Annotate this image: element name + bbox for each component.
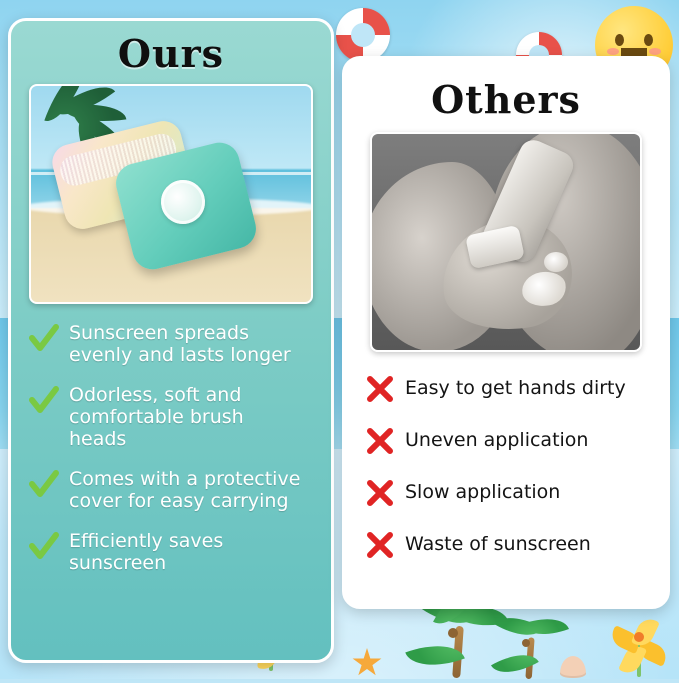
photo-lotion-drip xyxy=(544,252,568,272)
list-item: Easy to get hands dirty xyxy=(365,374,653,404)
others-title: Others xyxy=(345,77,667,122)
shell-icon xyxy=(560,656,586,678)
list-item-label: Uneven application xyxy=(405,430,588,452)
list-item-label: Easy to get hands dirty xyxy=(405,378,626,400)
list-item-label: Slow application xyxy=(405,482,560,504)
list-item: Sunscreen spreads evenly and lasts longe… xyxy=(29,322,321,366)
check-icon xyxy=(29,470,59,500)
list-item-label: Comes with a protective cover for easy c… xyxy=(69,468,307,512)
list-item-label: Sunscreen spreads evenly and lasts longe… xyxy=(69,322,307,366)
others-card: Others Easy to get hands dirty Uneven ap… xyxy=(342,56,670,609)
list-item-label: Waste of sunscreen xyxy=(405,534,591,556)
others-product-photo xyxy=(370,132,642,352)
check-icon xyxy=(29,324,59,354)
starfish-icon xyxy=(352,648,382,678)
cross-icon xyxy=(365,374,395,404)
check-icon xyxy=(29,532,59,562)
others-drawback-list: Easy to get hands dirty Uneven applicati… xyxy=(345,356,667,560)
list-item-label: Odorless, soft and comfortable brush hea… xyxy=(69,384,307,450)
ours-benefit-list: Sunscreen spreads evenly and lasts longe… xyxy=(11,322,331,574)
list-item: Uneven application xyxy=(365,426,653,456)
list-item: Efficiently saves sunscreen xyxy=(29,530,321,574)
cross-icon xyxy=(365,426,395,456)
list-item: Waste of sunscreen xyxy=(365,530,653,560)
cross-icon xyxy=(365,478,395,508)
life-ring-icon xyxy=(336,8,390,62)
cross-icon xyxy=(365,530,395,560)
ours-card: Ours Sunscreen spreads evenly and xyxy=(8,18,334,663)
ours-title: Ours xyxy=(11,31,331,76)
sunscreen-brush-product xyxy=(57,124,283,274)
check-icon xyxy=(29,386,59,416)
list-item: Comes with a protective cover for easy c… xyxy=(29,468,321,512)
list-item: Slow application xyxy=(365,478,653,508)
list-item-label: Efficiently saves sunscreen xyxy=(69,530,307,574)
list-item: Odorless, soft and comfortable brush hea… xyxy=(29,384,321,450)
pinwheel-icon xyxy=(608,606,670,668)
ours-product-photo xyxy=(29,84,313,304)
